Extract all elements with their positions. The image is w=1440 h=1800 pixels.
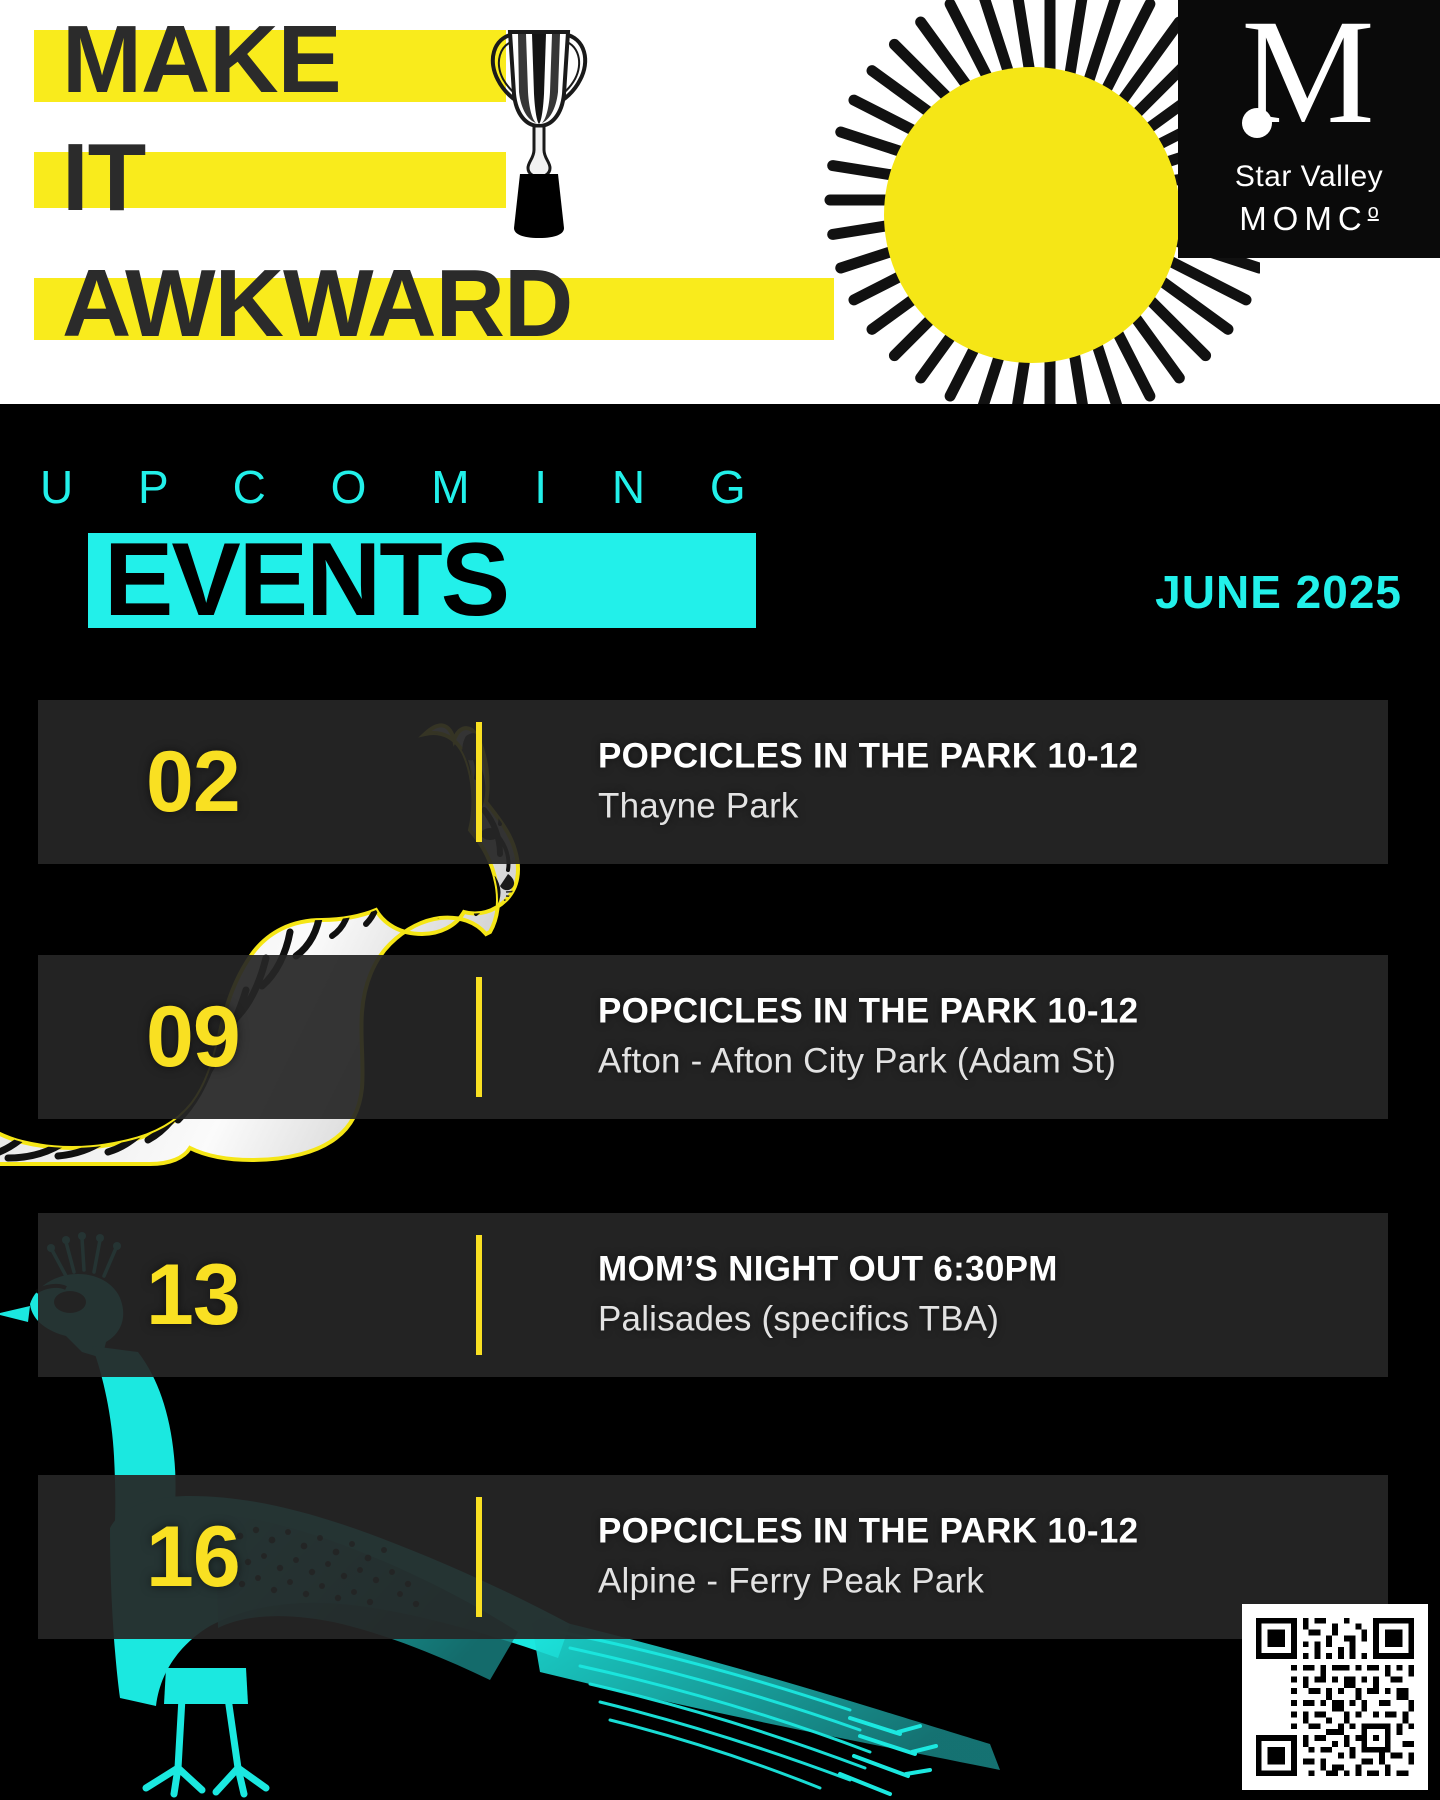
event-date: 16 <box>146 1514 240 1600</box>
section-title: EVENTS <box>104 528 508 632</box>
logo-org-brand: MOMCo <box>1178 200 1440 238</box>
event-row[interactable]: 13 MOM’S NIGHT OUT 6:30PM Palisades (spe… <box>38 1213 1388 1377</box>
event-location: Alpine - Ferry Peak Park <box>598 1557 1138 1604</box>
event-title: MOM’S NIGHT OUT 6:30PM <box>598 1248 1058 1292</box>
event-date: 09 <box>146 994 240 1080</box>
month-year-label: JUNE 2025 <box>1155 565 1402 619</box>
logo-monogram: M <box>1178 0 1440 152</box>
event-location: Thayne Park <box>598 782 1138 829</box>
event-row[interactable]: 16 POPCICLES IN THE PARK 10-12 Alpine - … <box>38 1475 1388 1639</box>
event-details: POPCICLES IN THE PARK 10-12 Afton - Afto… <box>598 990 1138 1085</box>
event-details: POPCICLES IN THE PARK 10-12 Alpine - Fer… <box>598 1510 1138 1605</box>
event-location: Palisades (specifics TBA) <box>598 1295 1058 1342</box>
event-date: 02 <box>146 739 240 825</box>
qr-code-matrix <box>1250 1612 1420 1782</box>
headline-line-it: IT <box>62 130 145 226</box>
event-title: POPCICLES IN THE PARK 10-12 <box>598 735 1138 779</box>
logo-brand-superscript: o <box>1368 201 1379 223</box>
event-row[interactable]: 02 POPCICLES IN THE PARK 10-12 Thayne Pa… <box>38 700 1388 864</box>
headline-line-awkward: AWKWARD <box>62 256 572 352</box>
logo-dot-icon <box>1242 108 1272 138</box>
brand-logo[interactable]: M Star Valley MOMCo <box>1178 0 1440 258</box>
logo-brand-text: MOMC <box>1239 200 1367 237</box>
event-details: POPCICLES IN THE PARK 10-12 Thayne Park <box>598 735 1138 830</box>
event-divider <box>476 977 482 1097</box>
poster-header: MAKE IT AWKWARD <box>0 0 1440 404</box>
event-divider <box>476 722 482 842</box>
event-date: 13 <box>146 1252 240 1338</box>
qr-code-icon[interactable] <box>1242 1604 1428 1790</box>
trophy-icon <box>484 22 594 242</box>
event-divider <box>476 1497 482 1617</box>
event-details: MOM’S NIGHT OUT 6:30PM Palisades (specif… <box>598 1248 1058 1343</box>
headline-line-make: MAKE <box>62 12 341 108</box>
logo-org-name: Star Valley <box>1178 160 1440 194</box>
event-divider <box>476 1235 482 1355</box>
section-eyebrow: U P C O M I N G <box>40 460 772 514</box>
event-title: POPCICLES IN THE PARK 10-12 <box>598 1510 1138 1554</box>
event-poster: MAKE IT AWKWARD <box>0 0 1440 1800</box>
event-title: POPCICLES IN THE PARK 10-12 <box>598 990 1138 1034</box>
event-location: Afton - Afton City Park (Adam St) <box>598 1037 1138 1084</box>
event-row[interactable]: 09 POPCICLES IN THE PARK 10-12 Afton - A… <box>38 955 1388 1119</box>
